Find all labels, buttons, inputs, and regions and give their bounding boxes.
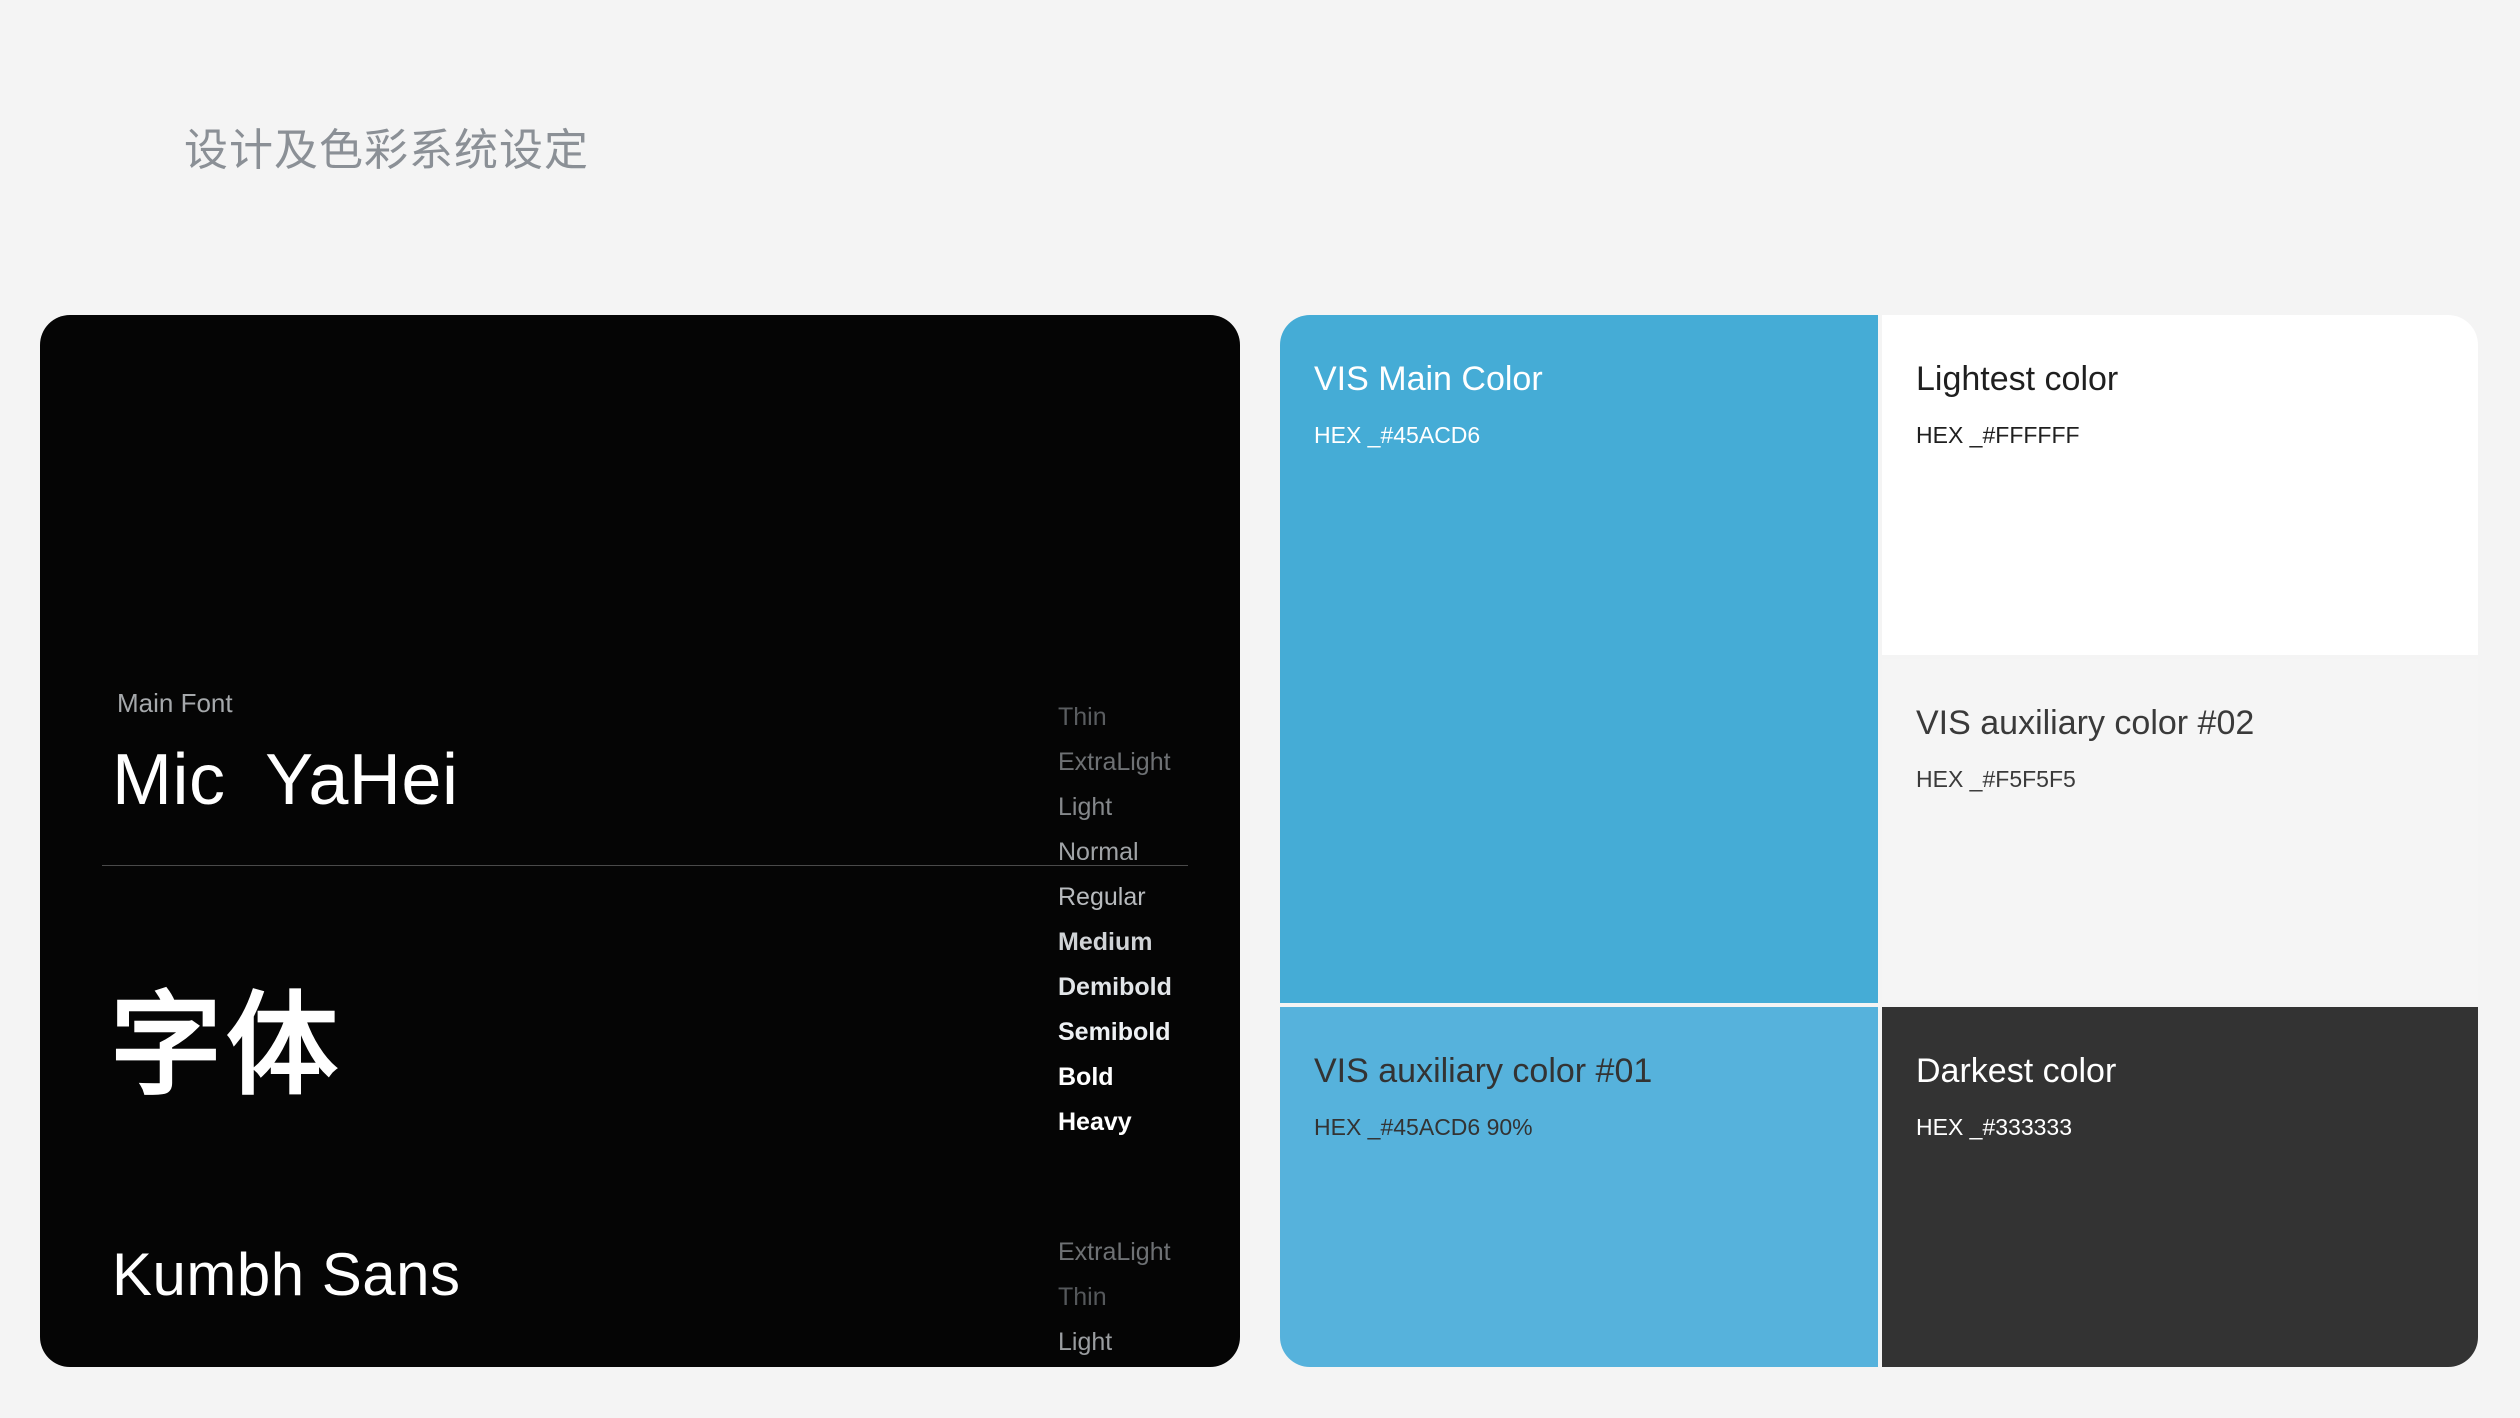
font-weight-item: Regular bbox=[1058, 875, 1172, 920]
color-palette-grid: VIS Main Color HEX _#45ACD6 Lightest col… bbox=[1280, 315, 2478, 1367]
font-weight-item: Normal bbox=[1058, 830, 1172, 875]
color-swatch-darkest[interactable]: Darkest color HEX _#333333 bbox=[1882, 1007, 2478, 1367]
swatch-title: VIS auxiliary color #01 bbox=[1314, 1052, 1652, 1091]
primary-font-weight-list: ThinExtraLightLightNormalRegularMediumDe… bbox=[1058, 695, 1172, 1145]
design-system-page: 设计及色彩系统设定 Main Font Mic YaHei 字体 Kumbh S… bbox=[0, 0, 2520, 1418]
font-weight-item: Thin bbox=[1058, 695, 1172, 740]
font-weight-item: Demibold bbox=[1058, 965, 1172, 1010]
section-divider bbox=[102, 865, 1188, 866]
swatch-title: Darkest color bbox=[1916, 1052, 2116, 1091]
swatch-hex-label: HEX _#F5F5F5 bbox=[1916, 766, 2076, 793]
secondary-font-weight-list: ExtraLightThinLightRegularMediumSemiBold… bbox=[1058, 1230, 1176, 1367]
font-weight-item: Regular bbox=[1058, 1365, 1176, 1367]
secondary-font-name: Kumbh Sans bbox=[112, 1240, 461, 1309]
font-weight-item: Bold bbox=[1058, 1055, 1172, 1100]
font-specimen-card: Main Font Mic YaHei 字体 Kumbh Sans Fonts … bbox=[40, 315, 1240, 1367]
font-weight-item: Medium bbox=[1058, 920, 1172, 965]
primary-font-cjk-sample: 字体 bbox=[110, 990, 342, 1102]
page-title: 设计及色彩系统设定 bbox=[184, 125, 589, 178]
font-weight-item: ExtraLight bbox=[1058, 740, 1172, 785]
font-weight-item: Light bbox=[1058, 1320, 1176, 1365]
font-weight-item: ExtraLight bbox=[1058, 1230, 1176, 1275]
font-weight-item: Heavy bbox=[1058, 1100, 1172, 1145]
swatch-title: VIS Main Color bbox=[1314, 360, 1543, 399]
main-font-label: Main Font bbox=[117, 688, 233, 719]
swatch-hex-label: HEX _#45ACD6 90% bbox=[1314, 1114, 1533, 1141]
font-card-content: Main Font Mic YaHei 字体 Kumbh Sans Fonts … bbox=[40, 315, 1240, 1367]
swatch-hex-label: HEX _#333333 bbox=[1916, 1114, 2072, 1141]
swatch-title: Lightest color bbox=[1916, 360, 2118, 399]
swatch-hex-label: HEX _#FFFFFF bbox=[1916, 422, 2080, 449]
color-swatch-auxiliary-02[interactable]: VIS auxiliary color #02 HEX _#F5F5F5 bbox=[1882, 659, 2478, 1003]
color-swatch-vis-main[interactable]: VIS Main Color HEX _#45ACD6 bbox=[1280, 315, 1878, 1003]
swatch-title: VIS auxiliary color #02 bbox=[1916, 704, 2254, 743]
swatch-hex-label: HEX _#45ACD6 bbox=[1314, 422, 1480, 449]
font-weight-item: Light bbox=[1058, 785, 1172, 830]
font-weight-item: Semibold bbox=[1058, 1010, 1172, 1055]
color-swatch-lightest[interactable]: Lightest color HEX _#FFFFFF bbox=[1882, 315, 2478, 655]
font-weight-item: Thin bbox=[1058, 1275, 1176, 1320]
primary-font-name: Mic YaHei bbox=[112, 739, 458, 821]
color-swatch-auxiliary-01[interactable]: VIS auxiliary color #01 HEX _#45ACD6 90% bbox=[1280, 1007, 1878, 1367]
